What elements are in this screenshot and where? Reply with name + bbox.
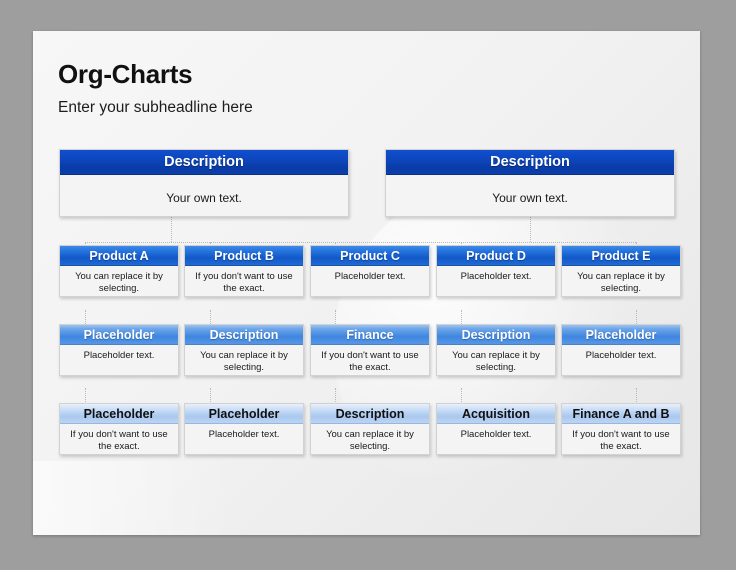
level3-card-1[interactable]: Placeholder Placeholder text. — [184, 403, 304, 455]
level3-card-2[interactable]: Description You can replace it by select… — [310, 403, 430, 455]
level1-card-2-header: Product C — [311, 246, 429, 266]
level1-card-3-body: Placeholder text. — [437, 266, 555, 283]
level1-card-0[interactable]: Product A You can replace it by selectin… — [59, 245, 179, 297]
level2-card-1-header: Description — [185, 325, 303, 345]
page-subtitle: Enter your subheadline here — [58, 99, 253, 117]
level3-card-1-header: Placeholder — [185, 404, 303, 424]
top-card-0-body: Your own text. — [60, 175, 348, 205]
level3-card-4[interactable]: Finance A and B If you don't want to use… — [561, 403, 681, 455]
top-card-1-header: Description — [386, 150, 674, 175]
level2-card-4[interactable]: Placeholder Placeholder text. — [561, 324, 681, 376]
level2-card-4-header: Placeholder — [562, 325, 680, 345]
connector-bus-level1 — [85, 242, 636, 243]
level3-card-3[interactable]: Acquisition Placeholder text. — [436, 403, 556, 455]
level3-card-4-header: Finance A and B — [562, 404, 680, 424]
level2-card-0-header: Placeholder — [60, 325, 178, 345]
level3-card-2-header: Description — [311, 404, 429, 424]
level3-card-1-body: Placeholder text. — [185, 424, 303, 441]
connector-top-right-stem — [530, 217, 531, 242]
top-card-0[interactable]: Description Your own text. — [59, 149, 349, 217]
level1-card-1-body: If you don't want to use the exact. — [185, 266, 303, 294]
level1-card-4-body: You can replace it by selecting. — [562, 266, 680, 294]
level1-card-0-header: Product A — [60, 246, 178, 266]
level2-card-2-body: If you don't want to use the exact. — [311, 345, 429, 373]
level2-card-1-body: You can replace it by selecting. — [185, 345, 303, 373]
connector-top-left-stem — [171, 217, 172, 242]
level2-card-3-body: You can replace it by selecting. — [437, 345, 555, 373]
level2-card-2-header: Finance — [311, 325, 429, 345]
page-title: Org-Charts — [58, 59, 192, 90]
level3-card-3-header: Acquisition — [437, 404, 555, 424]
level2-card-3-header: Description — [437, 325, 555, 345]
level2-card-4-body: Placeholder text. — [562, 345, 680, 362]
level2-card-0[interactable]: Placeholder Placeholder text. — [59, 324, 179, 376]
level3-card-0-header: Placeholder — [60, 404, 178, 424]
level3-card-0-body: If you don't want to use the exact. — [60, 424, 178, 452]
level2-card-0-body: Placeholder text. — [60, 345, 178, 362]
level1-card-1-header: Product B — [185, 246, 303, 266]
level3-card-0[interactable]: Placeholder If you don't want to use the… — [59, 403, 179, 455]
top-card-1-body: Your own text. — [386, 175, 674, 205]
level3-card-2-body: You can replace it by selecting. — [311, 424, 429, 452]
top-card-0-header: Description — [60, 150, 348, 175]
level1-card-1[interactable]: Product B If you don't want to use the e… — [184, 245, 304, 297]
level2-card-3[interactable]: Description You can replace it by select… — [436, 324, 556, 376]
level1-card-4[interactable]: Product E You can replace it by selectin… — [561, 245, 681, 297]
level3-card-4-body: If you don't want to use the exact. — [562, 424, 680, 452]
level1-card-3[interactable]: Product D Placeholder text. — [436, 245, 556, 297]
level1-card-3-header: Product D — [437, 246, 555, 266]
top-card-1[interactable]: Description Your own text. — [385, 149, 675, 217]
background-watermark-secondary — [33, 461, 233, 535]
level1-card-2-body: Placeholder text. — [311, 266, 429, 283]
level1-card-0-body: You can replace it by selecting. — [60, 266, 178, 294]
level1-card-2[interactable]: Product C Placeholder text. — [310, 245, 430, 297]
level2-card-2[interactable]: Finance If you don't want to use the exa… — [310, 324, 430, 376]
level3-card-3-body: Placeholder text. — [437, 424, 555, 441]
level2-card-1[interactable]: Description You can replace it by select… — [184, 324, 304, 376]
level1-card-4-header: Product E — [562, 246, 680, 266]
slide-canvas: Org-Charts Enter your subheadline here D… — [33, 31, 700, 535]
